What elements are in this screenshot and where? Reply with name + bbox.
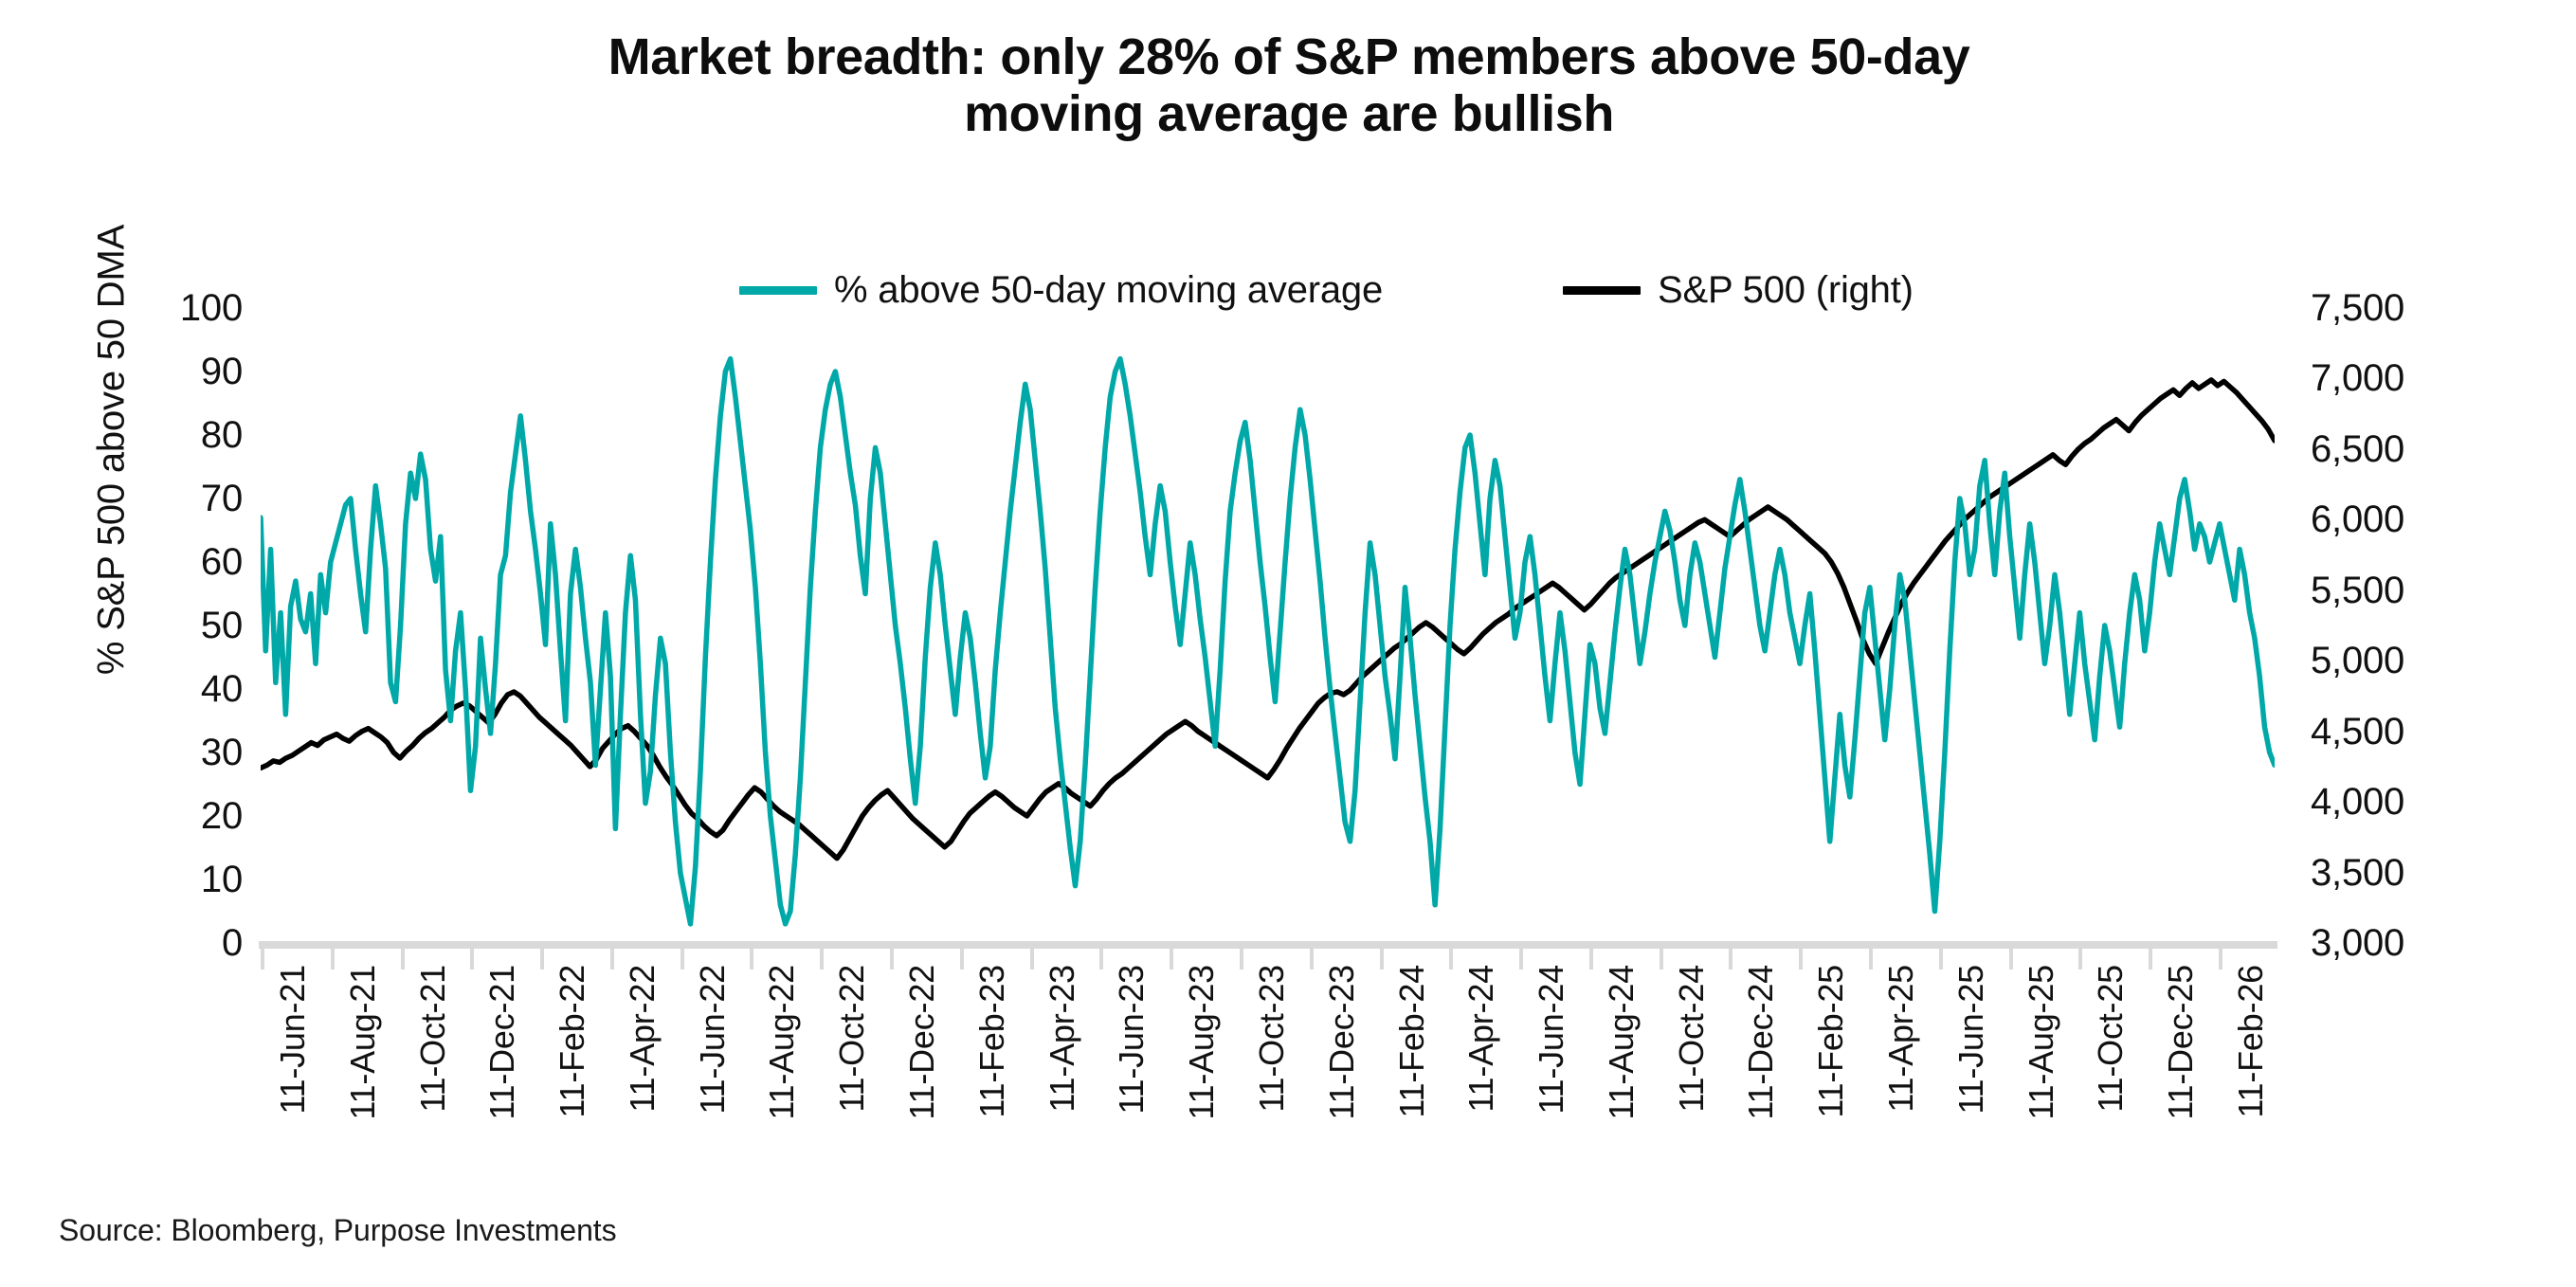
legend-swatch-sp500: [1563, 286, 1641, 295]
x-tick-mark: [960, 949, 964, 970]
x-tick-mark: [680, 949, 684, 970]
x-tick-mark: [470, 949, 474, 970]
x-tick-mark: [1589, 949, 1593, 970]
y-tick-right-3000: 3,000: [2311, 924, 2529, 962]
x-tick-label: 11-Jun-21: [273, 965, 313, 1115]
x-tick-label: 11-Jun-24: [1532, 965, 1571, 1115]
x-tick-mark: [1729, 949, 1732, 970]
source-note: Source: Bloomberg, Purpose Investments: [59, 1213, 617, 1248]
x-tick-mark: [750, 949, 753, 970]
y-tick-left-60: 60: [53, 543, 243, 581]
y-tick-left-20: 20: [53, 797, 243, 835]
x-tick-label: 11-Dec-24: [1741, 965, 1781, 1120]
y-tick-left-40: 40: [53, 670, 243, 708]
line-breadth: [261, 359, 2275, 924]
x-tick-mark: [1869, 949, 1873, 970]
y-tick-left-50: 50: [53, 607, 243, 644]
x-tick-mark: [820, 949, 824, 970]
x-tick-mark: [1660, 949, 1663, 970]
y-tick-left-100: 100: [53, 289, 243, 327]
x-tick-label: 11-Apr-22: [623, 965, 662, 1113]
y-tick-left-90: 90: [53, 353, 243, 390]
legend-item-sp500: S&P 500 (right): [1563, 269, 1914, 312]
y-tick-right-7500: 7,500: [2311, 289, 2529, 327]
y-tick-right-7000: 7,000: [2311, 359, 2529, 397]
x-tick-label: 11-Feb-25: [1811, 965, 1851, 1118]
x-tick-label: 11-Oct-21: [413, 965, 453, 1113]
x-tick-mark: [1030, 949, 1034, 970]
x-tick-label: 11-Feb-23: [972, 965, 1012, 1118]
x-tick-mark: [1380, 949, 1384, 970]
page-title: Market breadth: only 28% of S&P members …: [209, 28, 2369, 143]
x-tick-label: 11-Jun-25: [1951, 965, 1991, 1115]
legend-label-sp500: S&P 500 (right): [1658, 269, 1914, 312]
x-tick-label: 11-Feb-24: [1392, 965, 1432, 1118]
x-tick-label: 11-Oct-23: [1252, 965, 1292, 1113]
x-tick-mark: [540, 949, 544, 970]
y-tick-right-5000: 5,000: [2311, 642, 2529, 680]
x-tick-label: 11-Aug-25: [2022, 965, 2061, 1120]
y-tick-right-3500: 3,500: [2311, 854, 2529, 892]
y-tick-left-80: 80: [53, 416, 243, 454]
x-tick-mark: [1939, 949, 1943, 970]
x-tick-label: 11-Dec-25: [2161, 965, 2201, 1120]
x-tick-mark: [1240, 949, 1243, 970]
x-tick-mark: [1449, 949, 1453, 970]
x-tick-mark: [2149, 949, 2152, 970]
y-tick-right-6500: 6,500: [2311, 430, 2529, 468]
x-tick-mark: [1519, 949, 1523, 970]
x-tick-label: 11-Oct-24: [1672, 965, 1712, 1113]
x-tick-label: 11-Aug-23: [1182, 965, 1222, 1120]
x-tick-mark: [401, 949, 405, 970]
x-tick-label: 11-Apr-24: [1461, 965, 1501, 1113]
chart-page: Market breadth: only 28% of S&P members …: [0, 0, 2576, 1287]
x-tick-label: 11-Aug-21: [343, 965, 383, 1120]
y-tick-right-4500: 4,500: [2311, 713, 2529, 751]
x-tick-mark: [261, 949, 264, 970]
x-tick-mark: [1099, 949, 1103, 970]
x-tick-mark: [2078, 949, 2082, 970]
x-tick-label: 11-Aug-24: [1602, 965, 1642, 1120]
x-tick-label: 11-Dec-22: [902, 965, 942, 1120]
y-tick-right-4000: 4,000: [2311, 783, 2529, 821]
x-tick-mark: [890, 949, 894, 970]
x-tick-label: 11-Jun-22: [693, 965, 733, 1115]
x-tick-label: 11-Jun-23: [1112, 965, 1152, 1115]
x-tick-mark: [2009, 949, 2013, 970]
plot-area: [261, 308, 2275, 943]
x-tick-label: 11-Dec-21: [482, 965, 522, 1120]
x-tick-mark: [331, 949, 335, 970]
x-tick-label: 11-Feb-26: [2231, 965, 2271, 1118]
legend-item-breadth: % above 50-day moving average: [739, 269, 1383, 312]
x-tick-mark: [1310, 949, 1314, 970]
x-tick-mark: [1799, 949, 1803, 970]
x-tick-label: 11-Oct-22: [832, 965, 872, 1113]
x-tick-label: 11-Feb-22: [553, 965, 592, 1118]
series-svg: [261, 308, 2275, 943]
x-tick-mark: [610, 949, 614, 970]
x-tick-label: 11-Oct-25: [2091, 965, 2131, 1113]
y-tick-right-6000: 6,000: [2311, 500, 2529, 538]
y-tick-left-0: 0: [53, 924, 243, 962]
x-tick-label: 11-Apr-25: [1881, 965, 1921, 1113]
y-tick-left-10: 10: [53, 861, 243, 898]
legend-swatch-breadth: [739, 286, 817, 295]
y-tick-left-70: 70: [53, 480, 243, 517]
x-tick-mark: [2219, 949, 2222, 970]
x-tick-label: 11-Apr-23: [1043, 965, 1082, 1113]
y-tick-right-5500: 5,500: [2311, 571, 2529, 609]
x-tick-mark: [1170, 949, 1173, 970]
y-tick-left-30: 30: [53, 734, 243, 771]
x-tick-label: 11-Dec-23: [1322, 965, 1362, 1120]
legend-label-breadth: % above 50-day moving average: [834, 269, 1383, 312]
x-tick-label: 11-Aug-22: [762, 965, 802, 1120]
x-axis-line: [259, 941, 2277, 949]
